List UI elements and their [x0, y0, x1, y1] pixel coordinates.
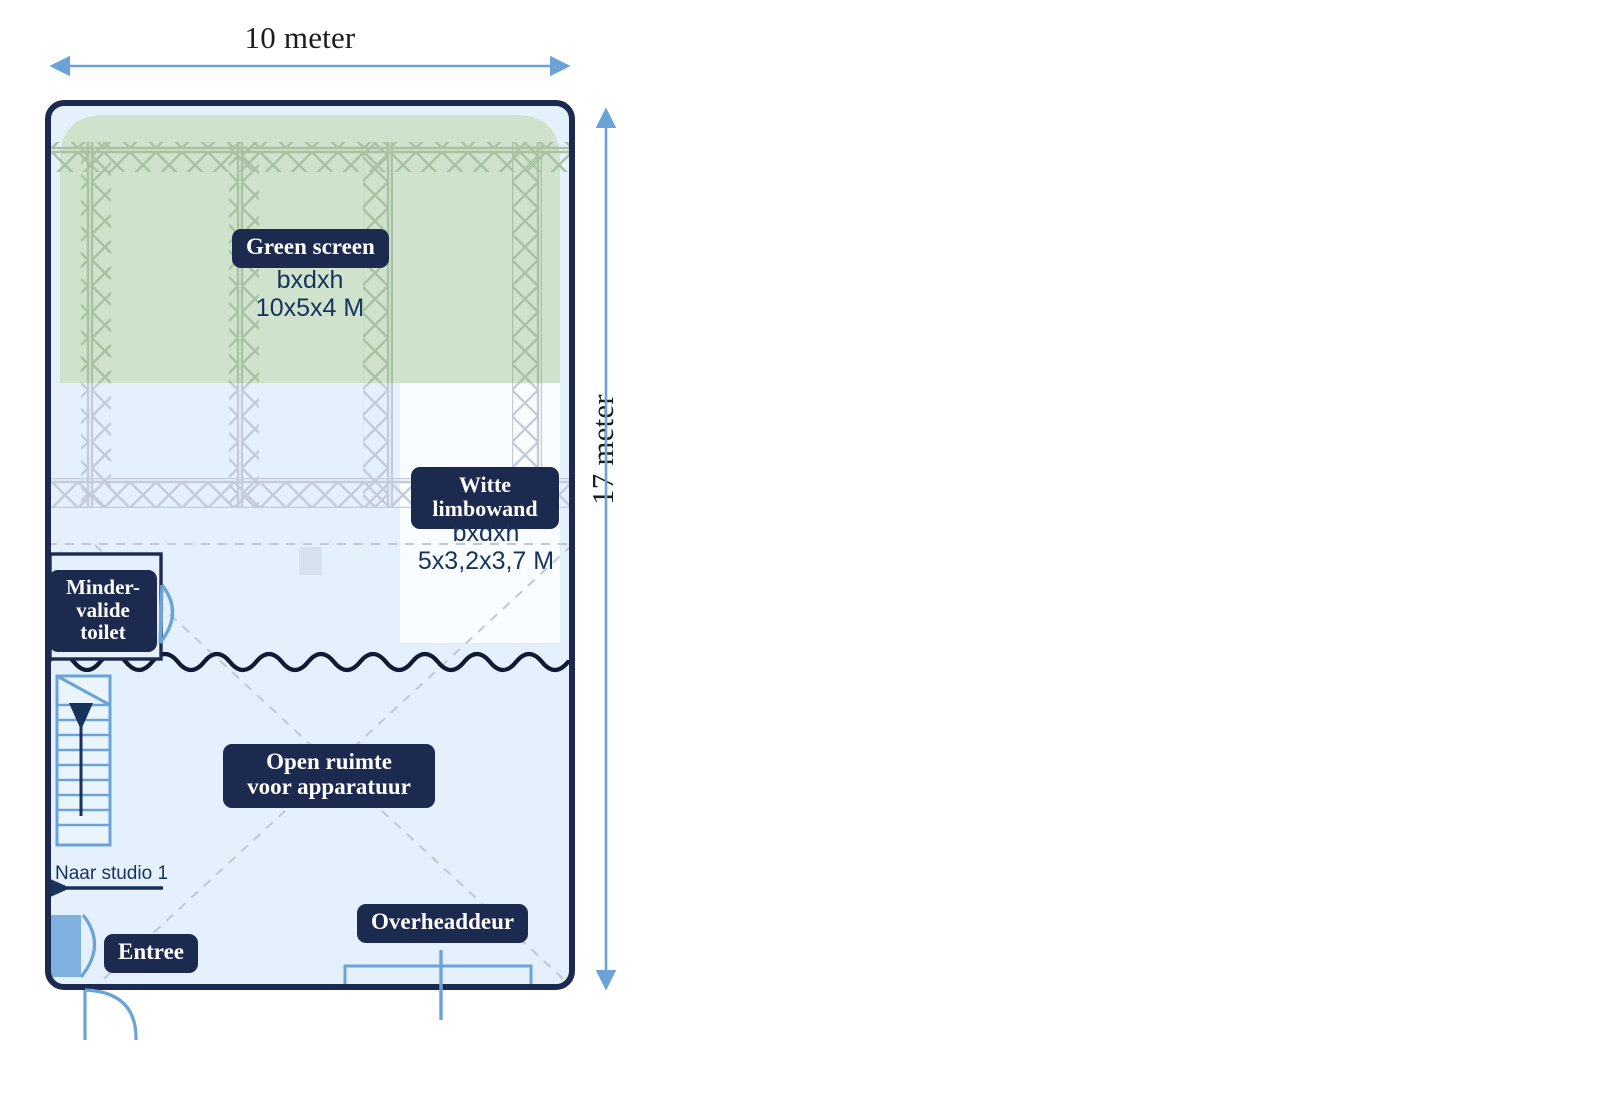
to-studio-1-label: Naar studio 1 [55, 863, 168, 885]
accessible-toilet-label: Minder- valide toilet [49, 570, 157, 652]
plan-canvas [0, 0, 1600, 1101]
truss-column-2-lower [229, 383, 259, 508]
overhead-door-label: Overheaddeur [357, 904, 528, 943]
staircase [57, 676, 110, 845]
entrance-door-panel [49, 915, 81, 977]
green-screen-label: Green screen [232, 229, 389, 268]
centre-pillar [299, 547, 322, 575]
truss-column-4 [512, 142, 542, 383]
entrance-label: Entree [104, 934, 198, 973]
open-space-label: Open ruimte voor apparatuur [223, 744, 435, 808]
floor-plan-diagram: 10 meter 17 meter [0, 0, 1600, 1101]
exterior-door-swing [85, 990, 136, 1040]
truss-column-1-lower [81, 383, 111, 508]
truss-column-3-lower [363, 383, 393, 508]
truss-column-1 [81, 142, 111, 383]
white-limbo-dimensions: bxdxh 5x3,2x3,7 M [390, 519, 582, 575]
toilet-door-leaf [160, 585, 162, 643]
green-screen-dimensions: bxdxh 10x5x4 M [200, 266, 420, 322]
truss-beam-top [48, 142, 572, 172]
